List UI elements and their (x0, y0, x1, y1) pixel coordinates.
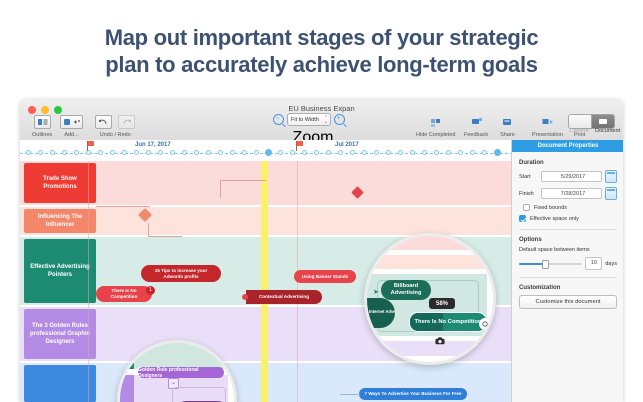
toolbar-label-outlines: Outlines (32, 132, 52, 138)
lens-r-band-purple (367, 341, 487, 356)
toolbar-label-hide-completed: Hide Completed (416, 132, 455, 138)
card-label-banner-stands: Using Banner Stands (302, 274, 348, 280)
card-anchor-dot-1 (242, 294, 248, 300)
start-date-field[interactable]: 5/29/2017 (541, 171, 602, 182)
ruler-label-jun: Jun 17, 2017 (135, 142, 171, 148)
toolbar-label-add: Add... (60, 132, 83, 138)
card-badge-count: 1 (146, 286, 155, 295)
lane-label-effective-advertising: Effective Advertising Pointers (27, 263, 93, 279)
connector-6 (340, 394, 360, 395)
lane-label-trade-show: Trade Show Promotions (27, 175, 93, 191)
zoom-controls: − Fit to Width ⌃⌄ + (273, 113, 345, 126)
lane-header-golden-rules[interactable]: The 3 Golden Rules professional Graphic … (24, 309, 96, 359)
magnifier-right[interactable]: Billboard Advertising ➤ 58% There Is No … (364, 233, 496, 365)
toggle-label-document: Document (595, 128, 619, 134)
undo-icon[interactable] (95, 115, 112, 129)
row-default-space: 10 days (519, 257, 617, 270)
zoom-value: Fit to Width (291, 117, 319, 123)
row-effective-space[interactable]: Effective space only (519, 215, 617, 222)
space-unit-label: days (605, 261, 617, 267)
customize-document-label: Customize this document (535, 299, 600, 305)
slider-knob[interactable] (542, 260, 549, 269)
card-contextual-advertising-1[interactable]: Contextual Advertising (246, 290, 322, 304)
content-document-toggle[interactable] (568, 114, 615, 129)
redo-icon[interactable] (118, 115, 135, 129)
card-7-ways[interactable]: 7 Ways To Advertise Your Business For Fr… (359, 388, 467, 400)
lane-header-influencing[interactable]: Influencing The Influencer (24, 209, 96, 233)
card-there-is-no-competition-1[interactable]: There Is No Competition (96, 286, 152, 302)
magnifier-minus-icon[interactable]: − (273, 114, 284, 125)
toolbar-item-outlines[interactable]: Outlines (32, 113, 52, 138)
add-icon (60, 115, 83, 129)
lane-header-advertise[interactable] (24, 365, 96, 402)
lane-label-golden-rules: The 3 Golden Rules professional Graphic … (27, 322, 93, 346)
milestone-flag-2[interactable] (297, 141, 303, 146)
ruler-label-jul: Jul 2017 (335, 142, 359, 148)
calendar-icon-start[interactable] (605, 170, 617, 183)
card-label-7-ways: 7 Ways To Advertise Your Business For Fr… (365, 391, 462, 397)
label-effective-space: Effective space only (530, 216, 579, 222)
calendar-icon-finish[interactable] (605, 187, 617, 200)
chevron-updown-icon: ⌃⌄ (324, 116, 328, 124)
lens-card-no-competition[interactable]: There Is No Competition (409, 312, 487, 332)
section-duration: Duration (519, 160, 623, 166)
ruler-tick-today[interactable] (265, 149, 272, 156)
presentation-icon (540, 116, 555, 128)
card-15-tips[interactable]: 15 Tips to increase your Adwords profits (141, 265, 221, 282)
connector-4 (220, 180, 221, 198)
toolbar-label-undo-redo: Undo / Redo (95, 132, 135, 138)
connector-3 (220, 180, 266, 181)
today-marker (261, 161, 268, 402)
lens-card-golden-rule[interactable]: Golden Rule professional Designers (138, 367, 224, 378)
label-start: Start (519, 174, 541, 180)
guide-line-1 (88, 161, 89, 402)
toolbar-item-feedback[interactable]: Feedback (464, 113, 488, 138)
page-root: Map out important stages of your strateg… (0, 0, 643, 402)
lens-group-frame (172, 387, 226, 402)
connector-2 (148, 236, 182, 237)
card-label-no-competition-1: There Is No Competition (101, 288, 147, 299)
space-value-field[interactable]: 10 (585, 257, 602, 270)
timeline-ruler[interactable]: Jun 17, 2017 Jul 2017 (20, 140, 511, 161)
magnifier-plus-icon[interactable]: + (334, 114, 345, 125)
milestone-flag-1[interactable] (88, 141, 94, 146)
lens-lane-head-teal (120, 343, 134, 369)
divider-1 (519, 229, 617, 230)
row-finish: Finish 7/28/2017 (519, 187, 617, 200)
lens-r-band-orange (367, 255, 487, 269)
camera-icon (435, 332, 445, 340)
label-finish: Finish (519, 191, 541, 197)
card-label-15-tips: 15 Tips to increase your Adwords profits (146, 268, 216, 279)
lens-r-card-partial-label: Internet Adve (369, 309, 396, 314)
lens-band-teal (120, 343, 228, 369)
section-options: Options (519, 237, 623, 243)
card-label-contextual-1: Contextual Advertising (259, 294, 309, 300)
checkbox-effective-space[interactable] (519, 215, 526, 222)
lens-card-label-billboard: Billboard Advertising (381, 283, 431, 297)
lane-header-trade-show[interactable]: Trade Show Promotions (24, 163, 96, 203)
magnifier-left[interactable]: Golden Rule professional Designers ⌄ Sea… (117, 340, 237, 402)
inspector-panel: Document Properties Duration Start 5/29/… (511, 140, 623, 402)
app-window: EU Business Expan Outlines Add... (20, 99, 623, 402)
lens-progress-badge: 58% (429, 298, 455, 309)
label-default-space: Default space between items (519, 247, 617, 253)
toolbar-label-presentation: Presentation (532, 132, 563, 138)
toolbar-item-undo-redo[interactable]: Undo / Redo (95, 113, 135, 138)
lens-badge-label: 58% (436, 301, 448, 307)
share-icon (500, 116, 515, 128)
feedback-icon (469, 116, 484, 128)
headline-line-1: Map out important stages of your strateg… (0, 24, 643, 51)
space-slider[interactable] (519, 263, 582, 265)
toolbar: EU Business Expan Outlines Add... (20, 99, 623, 141)
toggle-content[interactable] (569, 115, 592, 128)
lens-magnifier-icon[interactable] (479, 318, 491, 330)
document-title: EU Business Expan (20, 104, 623, 113)
toggle-document[interactable] (592, 115, 614, 128)
lens-card-label-no-competition: There Is No Competition (415, 319, 482, 325)
lane-header-effective-advertising[interactable]: Effective Advertising Pointers (24, 239, 96, 303)
connector-1 (148, 223, 149, 237)
hide-completed-icon (428, 116, 443, 128)
toolbar-label-share: Share (500, 132, 515, 138)
page-title: Map out important stages of your strateg… (0, 24, 643, 78)
lens-card-label-golden-rule: Golden Rule professional Designers (138, 367, 224, 379)
toolbar-item-share[interactable]: Share (500, 113, 515, 138)
inspector-title: Document Properties (512, 140, 623, 152)
headline-line-2: plan to accurately achieve long-term goa… (0, 51, 643, 78)
timeline-canvas[interactable]: Trade Show Promotions Influencing The In… (20, 140, 511, 402)
row-start: Start 5/29/2017 (519, 170, 617, 183)
toolbar-item-presentation[interactable]: Presentation (532, 113, 563, 138)
toggle-label-content: Content (567, 128, 591, 134)
lens-lane-head-purple (120, 375, 134, 402)
divider-2 (519, 277, 617, 278)
lens-arrow-icon: ➤ (373, 288, 379, 296)
toggle-labels: Content Document (567, 128, 619, 134)
lens-card-billboard[interactable]: Billboard Advertising (381, 280, 431, 300)
zoom-select[interactable]: Fit to Width ⌃⌄ (287, 113, 331, 126)
finish-date-field[interactable]: 7/28/2017 (541, 188, 602, 199)
card-using-banner-stands[interactable]: Using Banner Stands (294, 270, 356, 283)
toolbar-item-add[interactable]: Add... (60, 113, 83, 138)
toolbar-item-hide-completed[interactable]: Hide Completed (416, 113, 455, 138)
connector-5 (96, 206, 150, 207)
label-fixed-bounds: Fixed bounds (534, 205, 567, 211)
checkbox-fixed-bounds[interactable] (523, 204, 530, 211)
lens-r-band-red (367, 236, 487, 250)
customize-document-button[interactable]: Customize this document (519, 295, 617, 309)
lane-label-influencing: Influencing The Influencer (27, 213, 93, 229)
toolbar-label-feedback: Feedback (464, 132, 488, 138)
outline-icon (34, 115, 51, 129)
row-fixed-bounds[interactable]: Fixed bounds (523, 204, 617, 211)
section-customization: Customization (519, 285, 623, 291)
